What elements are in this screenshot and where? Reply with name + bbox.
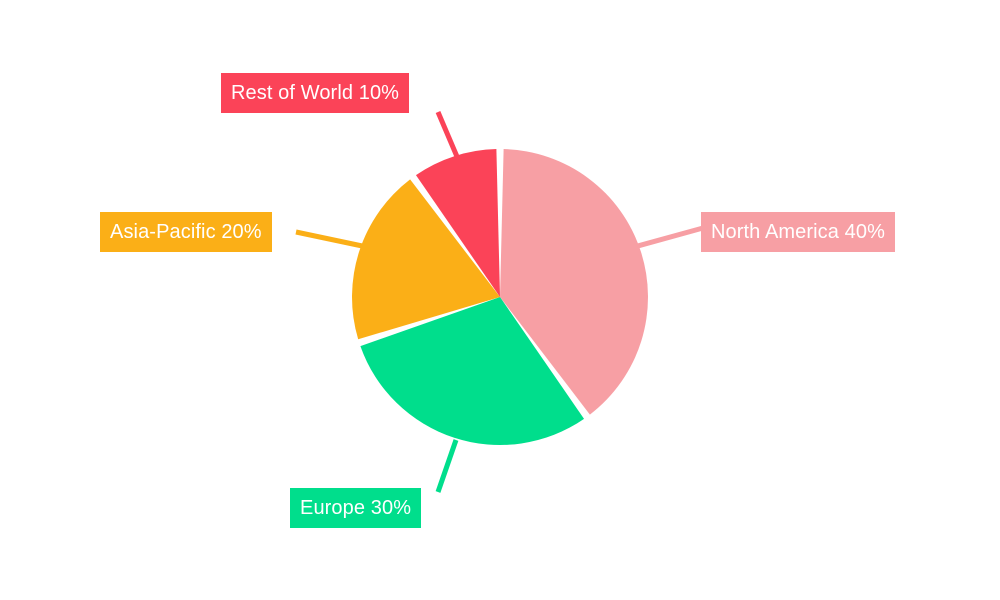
pie-chart-canvas bbox=[0, 0, 1000, 600]
slice-label-rest-of-world[interactable]: Rest of World 10% bbox=[221, 73, 409, 113]
slice-label-europe[interactable]: Europe 30% bbox=[290, 488, 421, 528]
leader-line-north-america bbox=[634, 228, 703, 247]
slice-label-asia-pacific[interactable]: Asia-Pacific 20% bbox=[100, 212, 272, 252]
leader-line-europe bbox=[438, 440, 456, 492]
leader-line-asia-pacific bbox=[296, 232, 367, 247]
pie-slices bbox=[352, 149, 648, 445]
pie-chart-figure: North America 40% Europe 30% Asia-Pacifi… bbox=[0, 0, 1000, 600]
slice-label-north-america[interactable]: North America 40% bbox=[701, 212, 895, 252]
